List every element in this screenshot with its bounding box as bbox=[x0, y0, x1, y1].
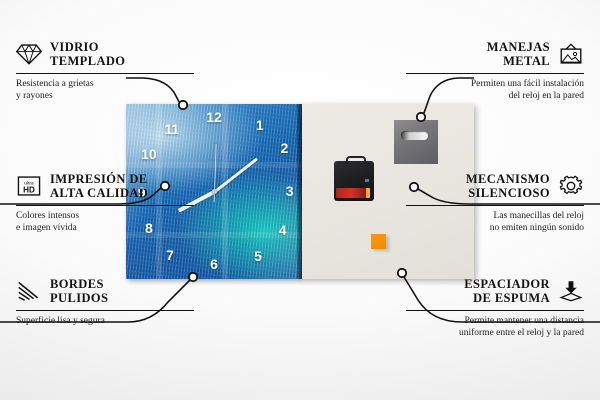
feature-title: VIDRIO TEMPLADO bbox=[50, 40, 125, 68]
clock-numeral-11: 11 bbox=[164, 122, 179, 136]
clock-numeral-10: 10 bbox=[141, 147, 157, 161]
feature-subtitle-line1: Resistencia a grietas bbox=[16, 78, 194, 90]
feature-title-line1: ESPACIADOR bbox=[464, 277, 550, 291]
feature-manejas-metal: MANEJAS METAL Permiten una fácil instala… bbox=[406, 40, 584, 102]
metal-hanger-plate bbox=[394, 120, 438, 164]
feature-header: VIDRIO TEMPLADO bbox=[16, 40, 194, 68]
battery bbox=[336, 188, 370, 198]
feature-subtitle-line2: uniforme entre el reloj y la pared bbox=[406, 327, 584, 339]
feature-divider bbox=[16, 310, 194, 311]
feature-subtitle-line2: e imagen vívida bbox=[16, 222, 194, 234]
feature-header: ultra HD IMPRESIÓN DE ALTA CALIDAD bbox=[16, 172, 194, 200]
feature-title-line1: IMPRESIÓN DE bbox=[50, 172, 148, 186]
feature-title-line2: METAL bbox=[487, 54, 550, 68]
feature-title-line1: VIDRIO bbox=[50, 40, 125, 54]
infographic-canvas: 12 1 2 3 4 5 6 7 8 9 10 11 bbox=[0, 0, 600, 400]
picture-hanger-icon bbox=[558, 42, 584, 66]
clock-mechanism bbox=[334, 161, 374, 201]
feature-subtitle-line1: Colores intensos bbox=[16, 210, 194, 222]
feature-title-line2: DE ESPUMA bbox=[464, 291, 550, 305]
feature-subtitle-line1: Superficie lisa y segura bbox=[16, 315, 194, 327]
feature-divider bbox=[16, 73, 194, 74]
feature-vidrio-templado: VIDRIO TEMPLADO Resistencia a grietas y … bbox=[16, 40, 194, 102]
hanger-slot bbox=[401, 131, 428, 140]
feature-impresion-alta-calidad: ultra HD IMPRESIÓN DE ALTA CALIDAD Color… bbox=[16, 172, 194, 234]
clock-numeral-12: 12 bbox=[206, 110, 222, 124]
feature-title-line2: ALTA CALIDAD bbox=[50, 186, 148, 200]
polished-edges-icon bbox=[16, 279, 42, 303]
clock-numeral-7: 7 bbox=[166, 248, 174, 262]
clock-numeral-6: 6 bbox=[210, 257, 218, 271]
feature-subtitle-line1: Permiten una fácil instalación bbox=[406, 78, 584, 90]
feature-header: BORDES PULIDOS bbox=[16, 277, 194, 305]
feature-title: ESPACIADOR DE ESPUMA bbox=[464, 277, 550, 305]
mechanism-hook bbox=[346, 156, 366, 165]
diamond-icon bbox=[16, 42, 42, 66]
feature-espaciador-espuma: ESPACIADOR DE ESPUMA Permite mantener un… bbox=[406, 277, 584, 339]
gear-icon bbox=[558, 174, 584, 198]
feature-subtitle: Permiten una fácil instalación del reloj… bbox=[406, 78, 584, 102]
feature-divider bbox=[406, 73, 584, 74]
feature-title-line1: MANEJAS bbox=[487, 40, 550, 54]
feature-mecanismo-silencioso: MECANISMO SILENCIOSO Las manecillas del … bbox=[406, 172, 584, 234]
clock-numeral-1: 1 bbox=[256, 118, 264, 132]
feature-subtitle-line1: Las manecillas del reloj bbox=[406, 210, 584, 222]
feature-subtitle: Permite mantener una distancia uniforme … bbox=[406, 315, 584, 339]
feature-title: MANEJAS METAL bbox=[487, 40, 550, 68]
feature-bordes-pulidos: BORDES PULIDOS Superficie lisa y segura bbox=[16, 277, 194, 327]
feature-header: MANEJAS METAL bbox=[406, 40, 584, 68]
foam-spacer bbox=[371, 234, 386, 249]
feature-subtitle: Colores intensos e imagen vívida bbox=[16, 210, 194, 234]
feature-subtitle-line2: no emiten ningún sonido bbox=[406, 222, 584, 234]
feature-header: MECANISMO SILENCIOSO bbox=[406, 172, 584, 200]
clock-numeral-5: 5 bbox=[254, 249, 262, 263]
feature-subtitle: Superficie lisa y segura bbox=[16, 315, 194, 327]
feature-title-line2: SILENCIOSO bbox=[466, 186, 550, 200]
feature-title: BORDES PULIDOS bbox=[50, 277, 108, 305]
svg-text:HD: HD bbox=[23, 186, 35, 195]
feature-title: IMPRESIÓN DE ALTA CALIDAD bbox=[50, 172, 148, 200]
feature-title-line1: BORDES bbox=[50, 277, 108, 291]
feature-divider bbox=[406, 310, 584, 311]
foam-spacer-icon bbox=[558, 279, 584, 303]
ultra-hd-icon: ultra HD bbox=[16, 174, 42, 198]
feature-title-line2: PULIDOS bbox=[50, 291, 108, 305]
feature-subtitle: Las manecillas del reloj no emiten ningú… bbox=[406, 210, 584, 234]
feature-header: ESPACIADOR DE ESPUMA bbox=[406, 277, 584, 305]
feature-title-line2: TEMPLADO bbox=[50, 54, 125, 68]
clock-numeral-3: 3 bbox=[286, 184, 294, 198]
feature-divider bbox=[16, 205, 194, 206]
clock-center-pin bbox=[212, 189, 217, 194]
feature-divider bbox=[406, 205, 584, 206]
feature-subtitle-line2: del reloj en la pared bbox=[406, 90, 584, 102]
feature-title: MECANISMO SILENCIOSO bbox=[466, 172, 550, 200]
feature-title-line1: MECANISMO bbox=[466, 172, 550, 186]
feature-subtitle: Resistencia a grietas y rayones bbox=[16, 78, 194, 102]
feature-subtitle-line1: Permite mantener una distancia bbox=[406, 315, 584, 327]
clock-numeral-4: 4 bbox=[279, 223, 287, 237]
feature-subtitle-line2: y rayones bbox=[16, 90, 194, 102]
clock-numeral-2: 2 bbox=[280, 141, 288, 155]
mechanism-dial bbox=[365, 179, 369, 182]
